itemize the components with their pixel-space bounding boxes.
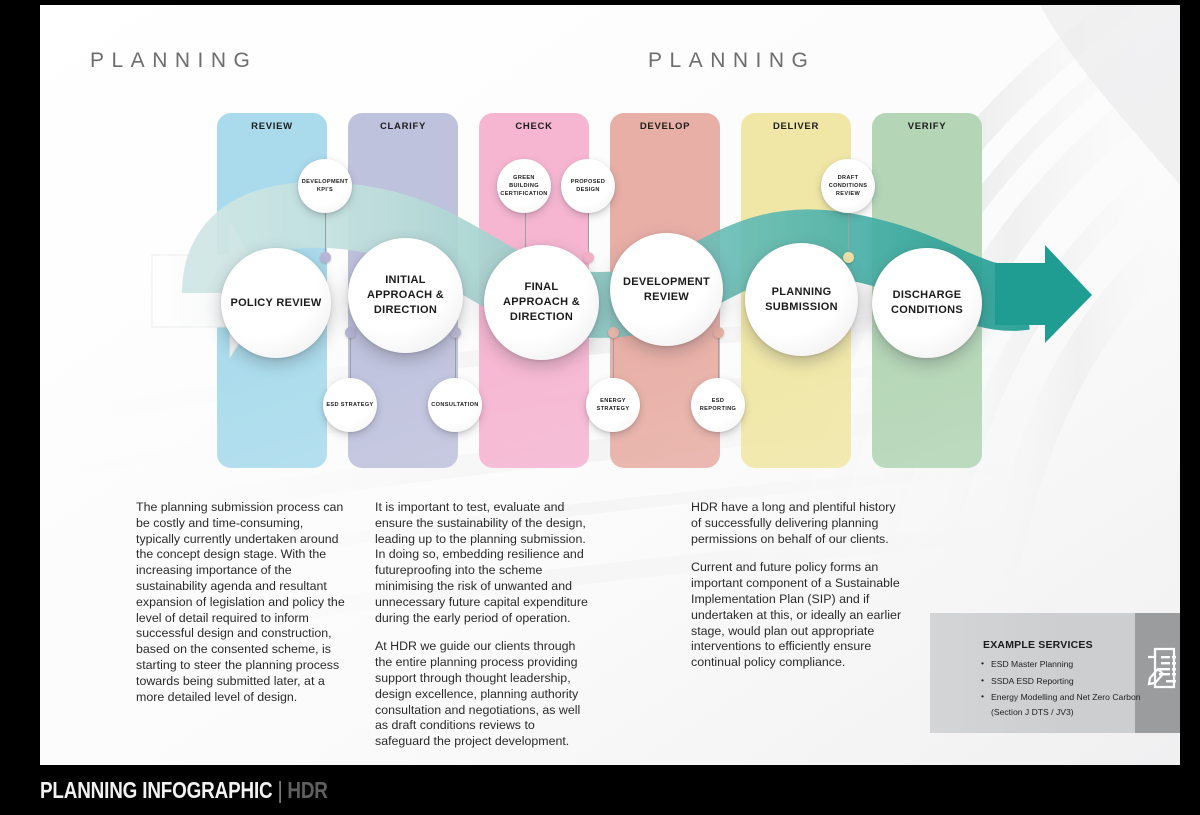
connector-dot-bottom-1 [345,327,356,338]
stage-label: DISCHARGE CONDITIONS [872,288,982,318]
node-label: GREEN BUILDING CERTIFICATION [497,174,551,198]
stage-circle-policy-review[interactable]: POLICY REVIEW [221,248,331,358]
node-label: ENERGY STRATEGY [586,397,640,413]
stage-circle-final-approach[interactable]: FINAL APPROACH & DIRECTION [484,245,599,360]
text-column-2: It is important to test, evaluate and en… [375,500,590,763]
list-item: Energy Modelling and Net Zero Carbon (Se… [981,690,1141,719]
stage-label: FINAL APPROACH & DIRECTION [484,280,599,325]
footer-separator: | [278,777,283,803]
connector-dot-top-1 [320,252,331,263]
paragraph: At HDR we guide our clients through the … [375,639,590,750]
footer-title: PLANNING INFOGRAPHIC | HDR [40,777,328,804]
node-circle-consultation[interactable]: CONSULTATION [428,378,482,432]
stage-label: PLANNING SUBMISSION [745,285,858,315]
document-pencil-icon [1144,645,1180,691]
connector-dot-bottom-4 [713,327,724,338]
paragraph: HDR have a long and plentiful history of… [691,500,903,547]
node-label: DEVELOPMENT KPI'S [298,178,352,194]
footer-brand: HDR [287,777,327,803]
node-circle-esd-reporting[interactable]: ESD REPORTING [691,378,745,432]
stage-circle-discharge-conditions[interactable]: DISCHARGE CONDITIONS [872,248,982,358]
node-label: DRAFT CONDITIONS REVIEW [821,174,875,198]
node-circle-energy-strategy[interactable]: ENERGY STRATEGY [586,378,640,432]
list-item: SSDA ESD Reporting [981,674,1141,689]
slide-canvas: PLANNING PLANNING REVIEW CLARIFY CHECK D… [40,5,1180,765]
connector-dot-bottom-3 [608,327,619,338]
screenshot-root: PLANNING PLANNING REVIEW CLARIFY CHECK D… [0,0,1200,815]
stage-circle-development-review[interactable]: DEVELOPMENT REVIEW [610,233,723,346]
node-circle-esd-strategy[interactable]: ESD STRATEGY [323,378,377,432]
paragraph: It is important to test, evaluate and en… [375,500,590,626]
text-column-3: HDR have a long and plentiful history of… [691,500,903,684]
node-label: PROPOSED DESIGN [561,178,615,194]
node-circle-development-kpis[interactable]: DEVELOPMENT KPI'S [298,159,352,213]
paragraph: The planning submission process can be c… [136,500,346,705]
stage-label: DEVELOPMENT REVIEW [610,275,723,305]
stage-label: POLICY REVIEW [222,296,329,311]
node-label: ESD REPORTING [691,397,745,413]
node-label: ESD STRATEGY [323,401,376,409]
node-circle-draft-conditions-review[interactable]: DRAFT CONDITIONS REVIEW [821,159,875,213]
connector-dot-top-4 [843,252,854,263]
footer-main: PLANNING INFOGRAPHIC [40,777,272,803]
text-column-1: The planning submission process can be c… [136,500,346,718]
node-label: CONSULTATION [428,401,481,409]
stage-circle-planning-submission[interactable]: PLANNING SUBMISSION [745,243,858,356]
stage-label: INITIAL APPROACH & DIRECTION [348,273,463,318]
paragraph: Current and future policy forms an impor… [691,560,903,671]
connector-dot-top-3 [583,252,594,263]
node-circle-green-building-certification[interactable]: GREEN BUILDING CERTIFICATION [497,159,551,213]
example-services-list: ESD Master Planning SSDA ESD Reporting E… [981,657,1141,721]
node-circle-proposed-design[interactable]: PROPOSED DESIGN [561,159,615,213]
example-services-title: EXAMPLE SERVICES [983,639,1093,651]
list-item: ESD Master Planning [981,657,1141,672]
stage-circle-initial-approach[interactable]: INITIAL APPROACH & DIRECTION [348,238,463,353]
